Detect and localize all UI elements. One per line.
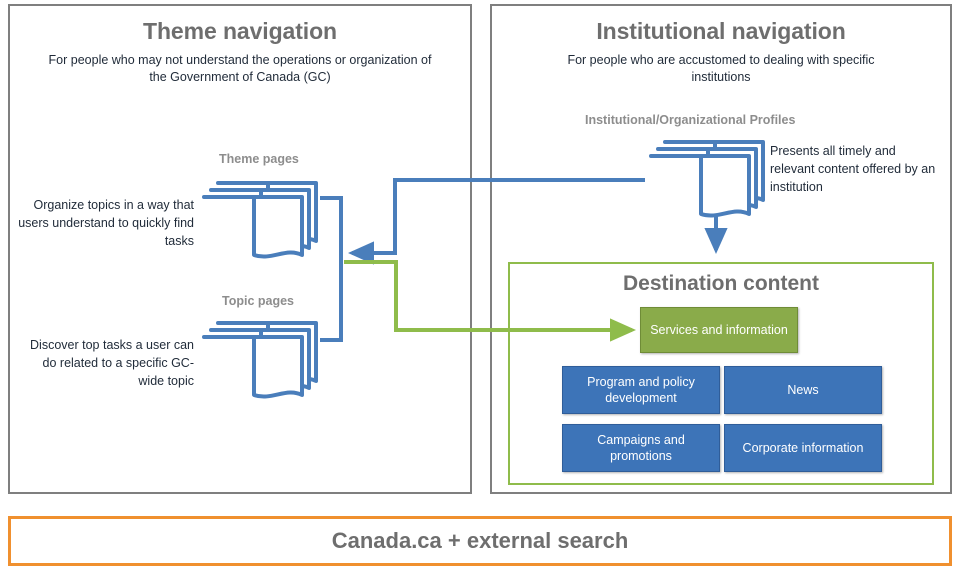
theme-pages-description: Organize topics in a way that users unde… bbox=[18, 196, 194, 250]
search-bar-label: Canada.ca + external search bbox=[332, 528, 629, 554]
canada-ca-external-search-bar[interactable]: Canada.ca + external search bbox=[8, 516, 952, 566]
institutional-profiles-caption: Institutional/Organizational Profiles bbox=[585, 113, 795, 127]
topic-pages-caption: Topic pages bbox=[222, 294, 294, 308]
tile-campaigns-and-promotions[interactable]: Campaigns and promotions bbox=[562, 424, 720, 472]
institutional-profiles-description: Presents all timely and relevant content… bbox=[770, 142, 942, 196]
topic-pages-stack-icon bbox=[198, 315, 328, 415]
tile-program-and-policy-development[interactable]: Program and policy development bbox=[562, 366, 720, 414]
theme-pages-stack-icon bbox=[198, 175, 328, 275]
diagram-canvas: Theme navigation For people who may not … bbox=[0, 0, 960, 577]
theme-navigation-title: Theme navigation bbox=[10, 18, 470, 45]
destination-content-title: Destination content bbox=[510, 272, 932, 296]
theme-navigation-subtitle: For people who may not understand the op… bbox=[40, 52, 440, 86]
institutional-profiles-stack-icon bbox=[645, 134, 775, 234]
tile-news[interactable]: News bbox=[724, 366, 882, 414]
institutional-navigation-title: Institutional navigation bbox=[492, 18, 950, 45]
institutional-navigation-subtitle: For people who are accustomed to dealing… bbox=[538, 52, 904, 86]
tile-corporate-information[interactable]: Corporate information bbox=[724, 424, 882, 472]
tile-services-and-information[interactable]: Services and information bbox=[640, 307, 798, 353]
theme-pages-caption: Theme pages bbox=[219, 152, 299, 166]
topic-pages-description: Discover top tasks a user can do related… bbox=[18, 336, 194, 390]
